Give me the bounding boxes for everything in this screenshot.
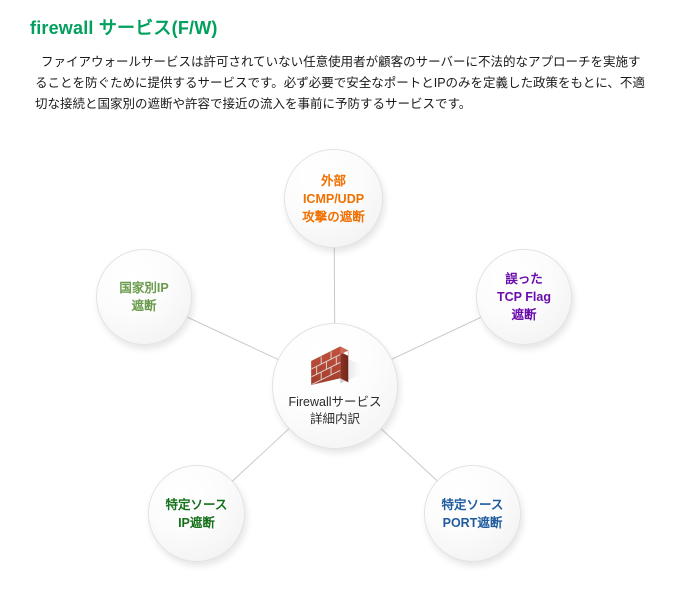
intro-paragraph: ファイアウォールサービスは許可されていない任意使用者が顧客のサーバーに不法的なア… [35, 52, 647, 115]
node-bottomright-label: 特定ソース PORT遮断 [436, 496, 510, 532]
node-icmp-udp-block[interactable]: 外部ICMP/UDP 攻撃の遮断 [284, 149, 383, 248]
firewall-service-diagram: Firewallサービス 詳細内訳 外部ICMP/UDP 攻撃の遮断 誤った T… [0, 130, 680, 590]
page-title: firewall サービス(F/W) [30, 14, 218, 40]
node-firewall-service-center[interactable]: Firewallサービス 詳細内訳 [272, 323, 398, 449]
node-source-port-block[interactable]: 特定ソース PORT遮断 [424, 465, 521, 562]
brick-wall-icon [302, 344, 368, 390]
node-source-ip-block[interactable]: 特定ソース IP遮断 [148, 465, 245, 562]
node-top-label: 外部ICMP/UDP 攻撃の遮断 [285, 172, 382, 226]
node-country-ip-block[interactable]: 国家別IP 遮断 [96, 249, 192, 345]
node-center-label: Firewallサービス 詳細内訳 [282, 394, 387, 428]
node-bottomleft-label: 特定ソース IP遮断 [160, 496, 234, 532]
node-left-label: 国家別IP 遮断 [113, 279, 174, 315]
node-right-label: 誤った TCP Flag 遮断 [491, 270, 557, 324]
node-tcp-flag-block[interactable]: 誤った TCP Flag 遮断 [476, 249, 572, 345]
